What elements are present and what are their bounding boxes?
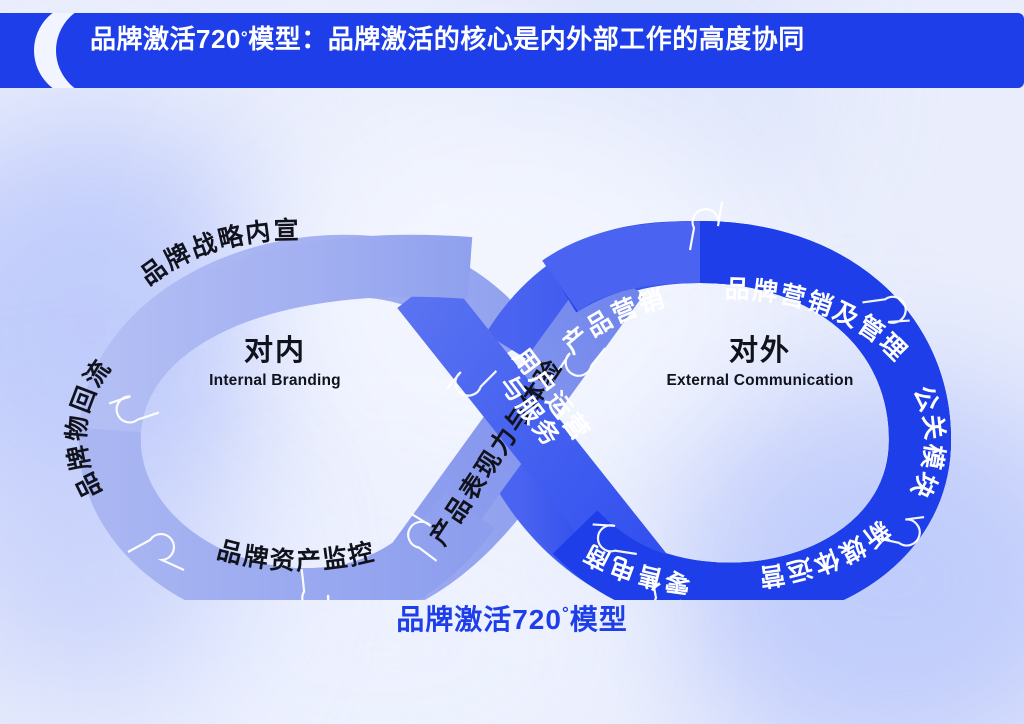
hub-internal-en: Internal Branding bbox=[155, 372, 395, 389]
page-title-prefix: 品牌激活720 bbox=[90, 19, 241, 56]
page-title: 品牌激活720°模型：品牌激活的核心是内外部工作的高度协同 bbox=[90, 0, 805, 75]
caption-suffix: 模型 bbox=[570, 604, 628, 635]
hub-external-communication: 对外 External Communication bbox=[610, 335, 910, 390]
caption-degree-symbol: ° bbox=[562, 604, 570, 623]
hub-external-cn: 对外 bbox=[610, 335, 910, 367]
diagram-caption: 品牌激活720°模型 bbox=[0, 598, 1024, 638]
caption-prefix: 品牌激活720 bbox=[396, 604, 562, 635]
slide-canvas: 品牌激活720°模型：品牌激活的核心是内外部工作的高度协同 bbox=[0, 0, 1024, 724]
page-title-suffix: 模型：品牌激活的核心是内外部工作的高度协同 bbox=[248, 19, 805, 56]
hub-internal-cn: 对内 bbox=[155, 335, 395, 367]
page-title-degree-symbol: ° bbox=[241, 29, 248, 46]
hub-external-en: External Communication bbox=[610, 372, 910, 389]
infinity-diagram: 品牌战略内宣 品牌物回流程打点 品牌资产监控 产品营销 品牌营销及管理 公关模块… bbox=[0, 100, 1024, 600]
hub-internal-branding: 对内 Internal Branding bbox=[155, 335, 395, 390]
